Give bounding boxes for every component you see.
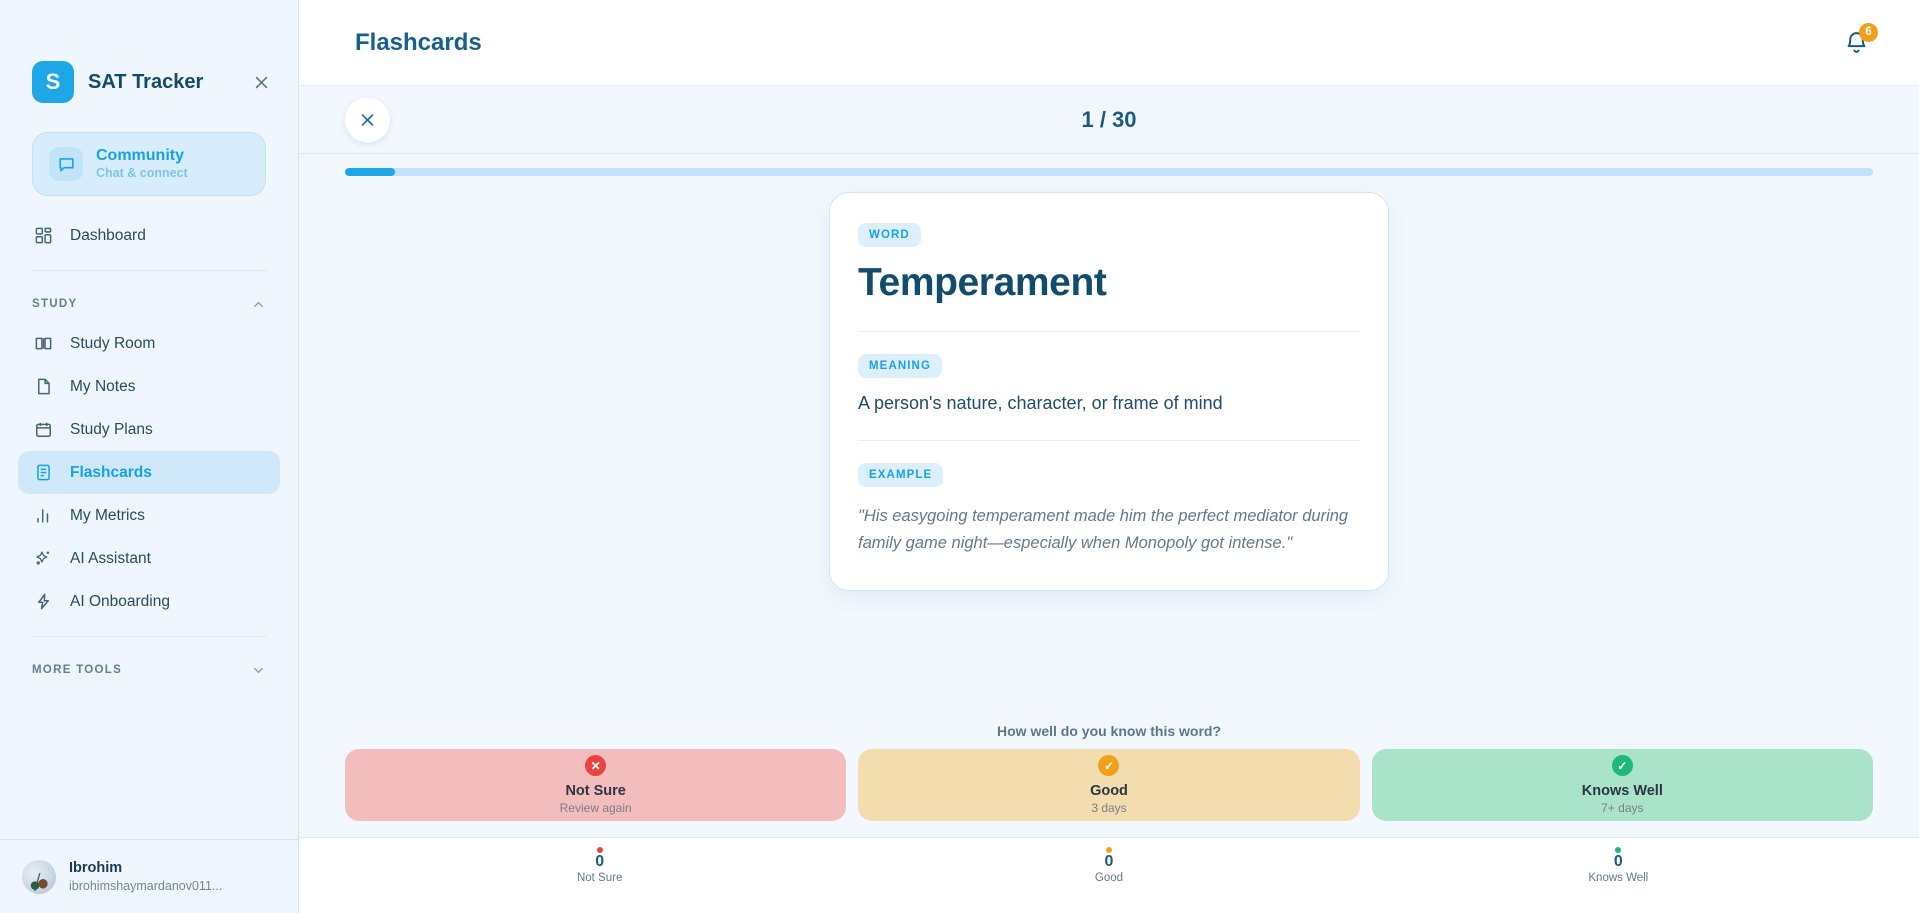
sidebar-item-label: Flashcards xyxy=(70,464,152,482)
flashcard-example: "His easygoing temperament made him the … xyxy=(858,503,1360,556)
book-open-icon xyxy=(32,333,54,355)
rating-interval: 7+ days xyxy=(1601,801,1643,815)
progress-bar-fill xyxy=(345,168,395,176)
sidebar-item-label: Study Room xyxy=(70,335,155,353)
sidebar-item-label: AI Onboarding xyxy=(70,593,170,611)
sidebar-community-card[interactable]: Community Chat & connect xyxy=(32,132,266,196)
chevron-up-icon xyxy=(251,297,266,312)
sidebar-nav-top: Dashboard xyxy=(0,214,298,257)
exit-session-button[interactable] xyxy=(345,97,390,142)
flashcard[interactable]: WORD Temperament MEANING A person's natu… xyxy=(829,192,1389,591)
sidebar-item-label: Study Plans xyxy=(70,421,153,439)
rating-interval: Review again xyxy=(560,801,632,815)
card-divider-2 xyxy=(858,440,1360,441)
sidebar-item-study-plans[interactable]: Study Plans xyxy=(18,408,280,451)
rating-button-not-sure[interactable]: ✕ Not Sure Review again xyxy=(345,749,846,821)
sidebar-item-label: AI Assistant xyxy=(70,550,151,568)
stat-count: 0 xyxy=(1105,853,1114,871)
rating-label: Good xyxy=(1090,783,1128,799)
meaning-tag: MEANING xyxy=(858,354,942,378)
main-content: Flashcards 6 1 / 30 xyxy=(299,0,1919,913)
rating-label: Not Sure xyxy=(565,783,625,799)
close-icon xyxy=(253,74,270,91)
file-page-icon xyxy=(32,376,54,398)
bar-chart-icon xyxy=(32,505,54,527)
top-header-bar: Flashcards 6 xyxy=(299,0,1919,86)
progress-section xyxy=(299,154,1919,188)
app-name: SAT Tracker xyxy=(88,71,203,94)
stat-count: 0 xyxy=(1614,853,1623,871)
stat-good: 0 Good xyxy=(854,838,1363,913)
rating-label: Knows Well xyxy=(1582,783,1663,799)
rating-button-good[interactable]: ✓ Good 3 days xyxy=(858,749,1359,821)
notifications-button[interactable]: 6 xyxy=(1839,26,1873,60)
rating-button-knows-well[interactable]: ✓ Knows Well 7+ days xyxy=(1372,749,1873,821)
sidebar-item-ai-onboarding[interactable]: AI Onboarding xyxy=(18,580,280,623)
sidebar-divider-1 xyxy=(32,270,266,271)
app-root: S SAT Tracker Community Chat & connect xyxy=(0,0,1919,913)
sidebar-section-label: STUDY xyxy=(32,298,77,310)
sidebar-nav-study: Study Room My Notes Study Plans xyxy=(0,322,298,623)
flashcard-word: Temperament xyxy=(858,261,1360,305)
notification-badge: 6 xyxy=(1859,23,1878,42)
sidebar-item-dashboard[interactable]: Dashboard xyxy=(18,214,280,257)
chevron-down-icon xyxy=(251,663,266,678)
avatar xyxy=(22,860,56,894)
sparkles-icon xyxy=(32,548,54,570)
sidebar-user-profile[interactable]: Ibrohim ibrohimshaymardanov011... xyxy=(0,839,298,913)
card-divider-1 xyxy=(858,331,1360,332)
close-icon xyxy=(359,111,376,128)
community-subtitle: Chat & connect xyxy=(96,166,188,181)
cards-list-icon xyxy=(32,462,54,484)
sidebar-item-ai-assistant[interactable]: AI Assistant xyxy=(18,537,280,580)
sidebar-item-label: Dashboard xyxy=(70,227,146,245)
circle-check-icon: ✓ xyxy=(1098,755,1119,776)
chat-bubble-icon xyxy=(49,147,83,181)
session-stats-row: 0 Not Sure 0 Good 0 Knows Well xyxy=(299,837,1919,913)
sidebar-item-label: My Notes xyxy=(70,378,135,396)
session-bar: 1 / 30 xyxy=(299,86,1919,154)
sidebar-item-my-notes[interactable]: My Notes xyxy=(18,365,280,408)
grid-dashboard-icon xyxy=(32,225,54,247)
sidebar-spacer xyxy=(0,684,298,839)
stat-label: Knows Well xyxy=(1588,872,1648,884)
example-tag: EXAMPLE xyxy=(858,463,943,487)
stat-label: Good xyxy=(1095,872,1123,884)
app-logo: S xyxy=(32,61,74,103)
rating-buttons-row: ✕ Not Sure Review again ✓ Good 3 days ✓ … xyxy=(299,749,1919,821)
sidebar-section-more-tools[interactable]: MORE TOOLS xyxy=(0,656,298,684)
stat-count: 0 xyxy=(595,853,604,871)
sidebar-collapse-button[interactable] xyxy=(248,69,274,95)
circle-double-check-icon: ✓ xyxy=(1612,755,1633,776)
sidebar-divider-2 xyxy=(32,636,266,637)
stat-label: Not Sure xyxy=(577,872,622,884)
sidebar: S SAT Tracker Community Chat & connect xyxy=(0,0,299,913)
sidebar-brand: S SAT Tracker xyxy=(0,0,298,116)
page-title: Flashcards xyxy=(355,29,482,57)
sidebar-item-study-room[interactable]: Study Room xyxy=(18,322,280,365)
sidebar-item-label: My Metrics xyxy=(70,507,145,525)
word-tag: WORD xyxy=(858,223,921,247)
rating-interval: 3 days xyxy=(1091,801,1126,815)
rating-prompt: How well do you know this word? xyxy=(299,721,1919,749)
sidebar-section-label: MORE TOOLS xyxy=(32,664,122,676)
lightning-bolt-icon xyxy=(32,591,54,613)
flashcard-meaning: A person's nature, character, or frame o… xyxy=(858,393,1360,414)
progress-bar-track xyxy=(345,168,1873,176)
user-email: ibrohimshaymardanov011... xyxy=(69,878,222,894)
calendar-icon xyxy=(32,419,54,441)
flashcard-area: WORD Temperament MEANING A person's natu… xyxy=(299,188,1919,721)
community-title: Community xyxy=(96,147,188,166)
sidebar-section-study[interactable]: STUDY xyxy=(0,290,298,318)
card-counter: 1 / 30 xyxy=(1081,107,1136,133)
user-name: Ibrohim xyxy=(69,859,222,878)
stat-not-sure: 0 Not Sure xyxy=(345,838,854,913)
circle-x-icon: ✕ xyxy=(585,755,606,776)
stat-knows-well: 0 Knows Well xyxy=(1364,838,1873,913)
sidebar-item-flashcards[interactable]: Flashcards xyxy=(18,451,280,494)
sidebar-item-my-metrics[interactable]: My Metrics xyxy=(18,494,280,537)
